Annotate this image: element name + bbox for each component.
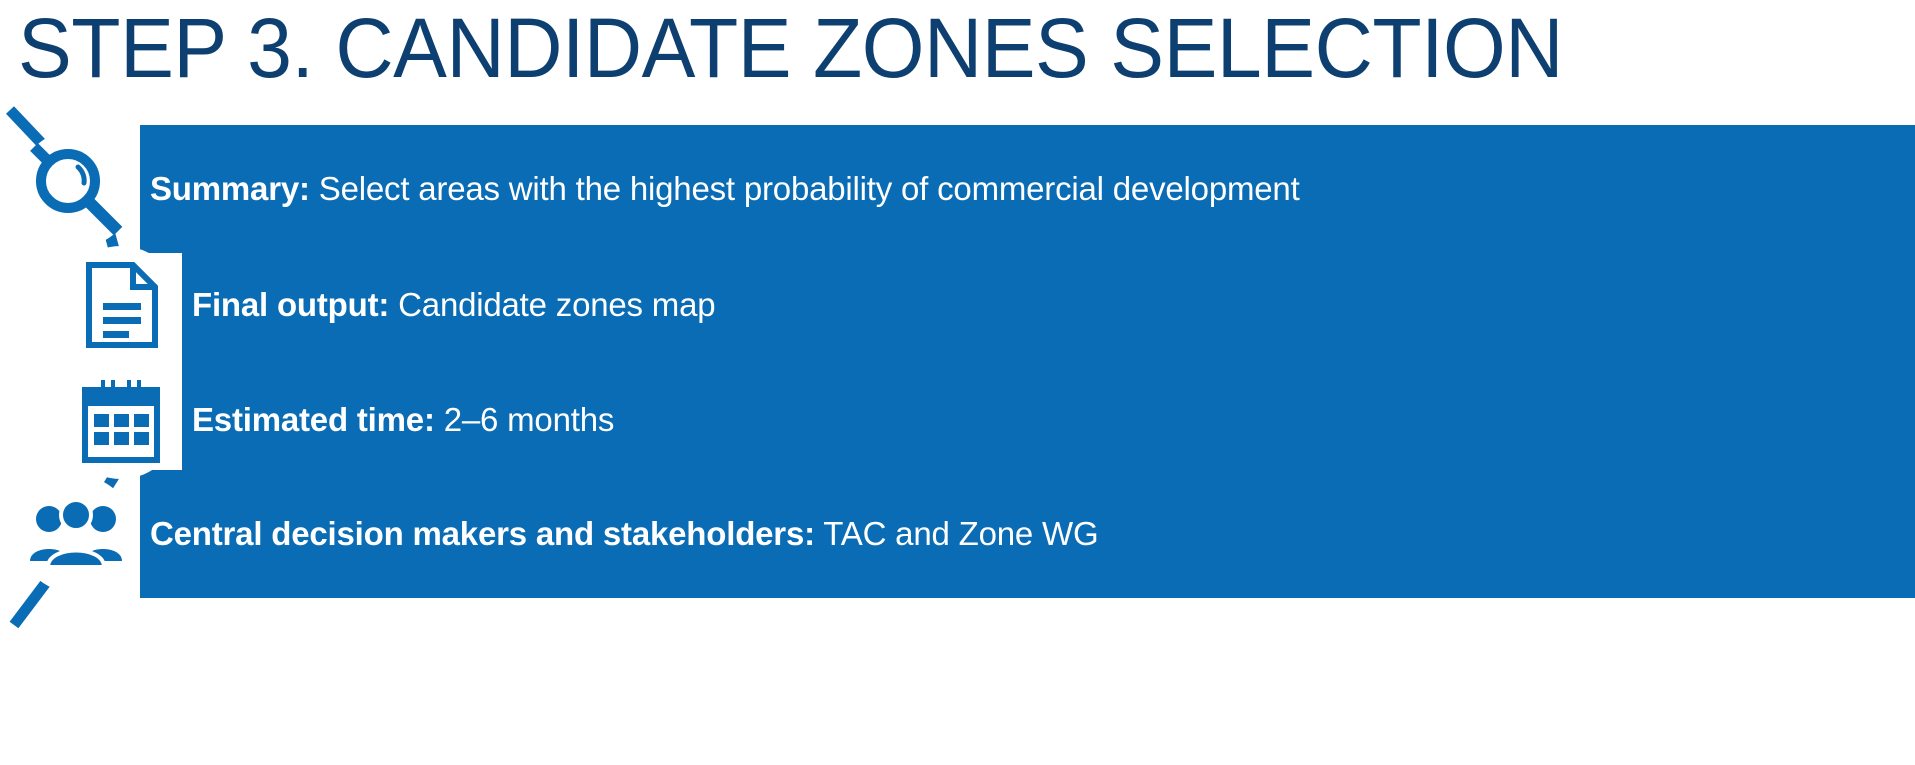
magnifier-icon xyxy=(17,130,135,248)
row-stakeholders-value: TAC and Zone WG xyxy=(815,515,1099,552)
calendar-icon xyxy=(62,361,180,479)
row-estimated-time-text: Estimated time: 2–6 months xyxy=(192,401,614,439)
row-summary-text: Summary: Select areas with the highest p… xyxy=(150,170,1300,208)
infographic-page: STEP 3. CANDIDATE ZONES SELECTION xyxy=(0,0,1915,765)
people-icon xyxy=(17,475,135,593)
row-summary-value: Select areas with the highest probabilit… xyxy=(310,170,1300,207)
row-stakeholders[interactable]: Central decision makers and stakeholders… xyxy=(0,470,1915,598)
row-final-output-label: Final output: xyxy=(192,286,389,323)
row-summary-label: Summary: xyxy=(150,170,310,207)
row-estimated-time-value: 2–6 months xyxy=(435,401,614,438)
row-estimated-time[interactable]: Estimated time: 2–6 months xyxy=(0,356,1915,484)
row-stakeholders-text: Central decision makers and stakeholders… xyxy=(150,515,1098,553)
row-final-output-text: Final output: Candidate zones map xyxy=(192,286,715,324)
row-summary[interactable]: Summary: Select areas with the highest p… xyxy=(0,125,1915,253)
rows-container: Summary: Select areas with the highest p… xyxy=(0,0,1915,765)
row-final-output[interactable]: Final output: Candidate zones map xyxy=(0,241,1915,369)
row-estimated-time-label: Estimated time: xyxy=(192,401,435,438)
row-stakeholders-label: Central decision makers and stakeholders… xyxy=(150,515,815,552)
row-final-output-value: Candidate zones map xyxy=(389,286,715,323)
document-icon xyxy=(62,246,180,364)
